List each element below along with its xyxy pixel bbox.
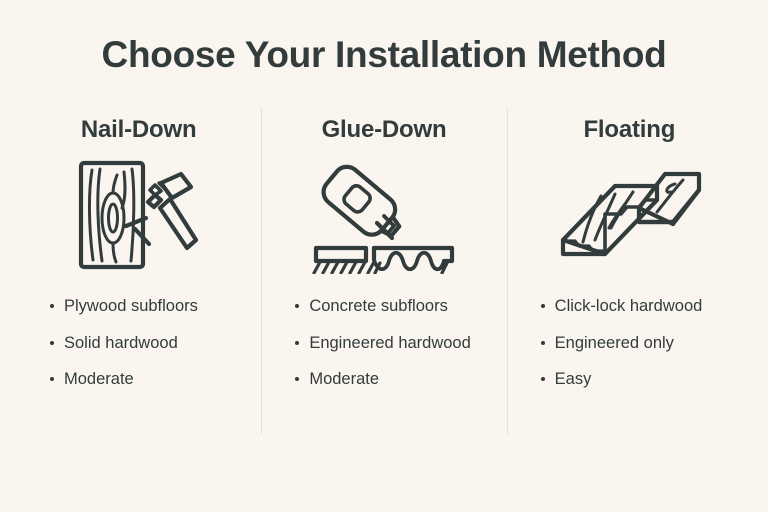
- click-lock-planks-icon: [553, 156, 705, 274]
- bullet-dot-icon: [50, 304, 54, 308]
- installation-method-infographic: Choose Your Installation Method Nail-Dow…: [0, 0, 768, 512]
- list-item-label: Easy: [555, 369, 592, 390]
- list-item: Engineered hardwood: [295, 333, 498, 354]
- column-heading: Floating: [583, 116, 675, 144]
- column-bullet-list: Plywood subfloors Solid hardwood Moderat…: [16, 296, 261, 406]
- method-column-glue-down: Glue-Down: [261, 108, 506, 434]
- glue-bottle-trowel-adhesive-icon: [308, 156, 460, 274]
- list-item: Easy: [541, 369, 744, 390]
- bullet-dot-icon: [295, 304, 299, 308]
- list-item-label: Engineered only: [555, 333, 674, 354]
- list-item-label: Plywood subfloors: [64, 296, 198, 317]
- bullet-dot-icon: [50, 341, 54, 345]
- bullet-dot-icon: [50, 377, 54, 381]
- method-columns: Nail-Down: [16, 108, 752, 434]
- list-item-label: Click-lock hardwood: [555, 296, 703, 317]
- list-item-label: Solid hardwood: [64, 333, 178, 354]
- method-column-nail-down: Nail-Down: [16, 108, 261, 434]
- list-item: Moderate: [50, 369, 253, 390]
- bullet-dot-icon: [541, 304, 545, 308]
- list-item-label: Concrete subfloors: [309, 296, 448, 317]
- list-item: Solid hardwood: [50, 333, 253, 354]
- bullet-dot-icon: [541, 377, 545, 381]
- page-title: Choose Your Installation Method: [0, 34, 768, 77]
- column-bullet-list: Concrete subfloors Engineered hardwood M…: [261, 296, 506, 406]
- column-bullet-list: Click-lock hardwood Engineered only Easy: [507, 296, 752, 406]
- list-item: Engineered only: [541, 333, 744, 354]
- bullet-dot-icon: [541, 341, 545, 345]
- method-column-floating: Floating: [507, 108, 752, 434]
- list-item-label: Moderate: [64, 369, 134, 390]
- list-item: Plywood subfloors: [50, 296, 253, 317]
- list-item-label: Engineered hardwood: [309, 333, 470, 354]
- list-item: Moderate: [295, 369, 498, 390]
- bullet-dot-icon: [295, 377, 299, 381]
- list-item: Concrete subfloors: [295, 296, 498, 317]
- column-heading: Nail-Down: [81, 116, 197, 144]
- column-heading: Glue-Down: [322, 116, 447, 144]
- bullet-dot-icon: [295, 341, 299, 345]
- list-item-label: Moderate: [309, 369, 379, 390]
- wood-plank-nail-hammer-icon: [69, 156, 209, 274]
- list-item: Click-lock hardwood: [541, 296, 744, 317]
